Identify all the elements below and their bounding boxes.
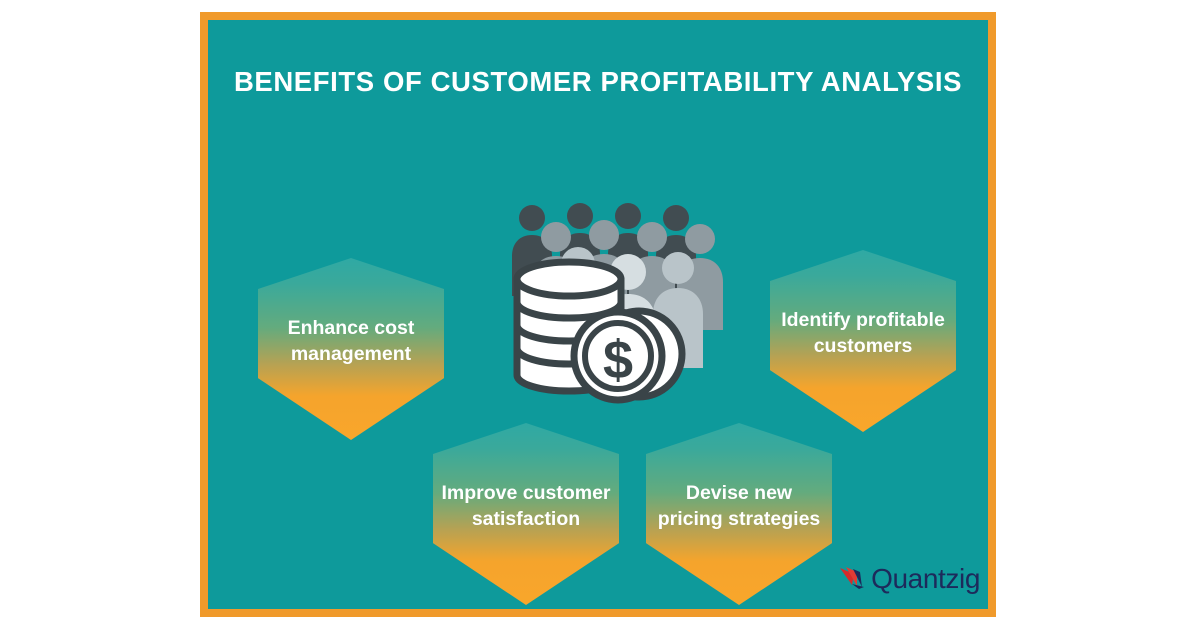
benefit-hex-identify-profitable-customers[interactable]: Identify profitable customers: [770, 250, 956, 432]
brand-logo[interactable]: Quantzig: [839, 559, 980, 593]
benefit-label: Identify profitable customers: [770, 308, 956, 360]
dollar-sign: $: [603, 330, 633, 390]
coin-stack-with-crowd-illustration: $: [508, 202, 743, 412]
dollar-coin: $: [574, 312, 662, 400]
quantzig-arrow-icon: [839, 566, 869, 590]
poster-canvas: BENEFITS OF CUSTOMER PROFITABILITY ANALY…: [0, 0, 1200, 627]
benefit-label: Enhance cost management: [258, 316, 444, 368]
poster-frame: BENEFITS OF CUSTOMER PROFITABILITY ANALY…: [200, 12, 996, 617]
benefit-hex-enhance-cost-management[interactable]: Enhance cost management: [258, 258, 444, 440]
benefit-hex-improve-customer-satisfaction[interactable]: Improve customer satisfaction: [433, 423, 619, 605]
benefit-label: Improve customer satisfaction: [433, 481, 619, 533]
brand-wordmark: Quantzig: [871, 565, 980, 593]
page-title: BENEFITS OF CUSTOMER PROFITABILITY ANALY…: [208, 67, 988, 97]
benefit-label: Devise new pricing strategies: [646, 481, 832, 533]
benefit-hex-devise-new-pricing-strategies[interactable]: Devise new pricing strategies: [646, 423, 832, 605]
